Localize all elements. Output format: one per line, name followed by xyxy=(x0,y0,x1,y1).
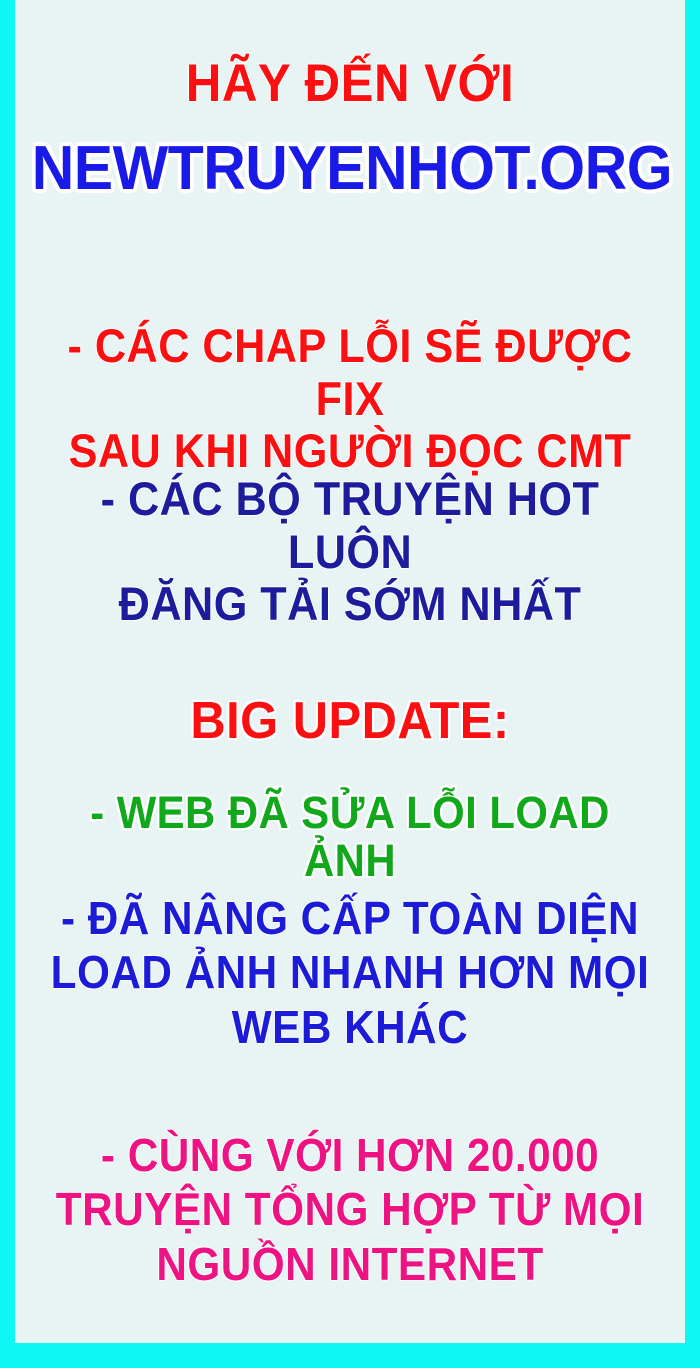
headline-invitation: HÃY ĐẾN VỚI xyxy=(38,56,661,112)
notice-fix-chapters: - CÁC CHAP LỖI SẼ ĐƯỢC FIX SAU KHI NGƯỜI… xyxy=(42,320,658,478)
promo-poster: HÃY ĐẾN VỚI NEWTRUYENHOT.ORG - CÁC CHAP … xyxy=(0,0,700,1368)
poster-canvas: HÃY ĐẾN VỚI NEWTRUYENHOT.ORG - CÁC CHAP … xyxy=(15,0,685,1343)
notice-hot-series: - CÁC BỘ TRUYỆN HOT LUÔN ĐĂNG TẢI SỚM NH… xyxy=(42,473,658,631)
update-item-story-count: - CÙNG VỚI HƠN 20.000 TRUYỆN TỔNG HỢP TỪ… xyxy=(42,1128,658,1291)
update-item-image-load-fix: - WEB ĐÃ SỬA LỖI LOAD ẢNH xyxy=(38,789,661,884)
site-name-headline[interactable]: NEWTRUYENHOT.ORG xyxy=(32,136,669,202)
update-item-full-upgrade: - ĐÃ NÂNG CẤP TOÀN DIỆN LOAD ẢNH NHANH H… xyxy=(42,891,658,1054)
big-update-title: BIG UPDATE: xyxy=(35,694,665,749)
